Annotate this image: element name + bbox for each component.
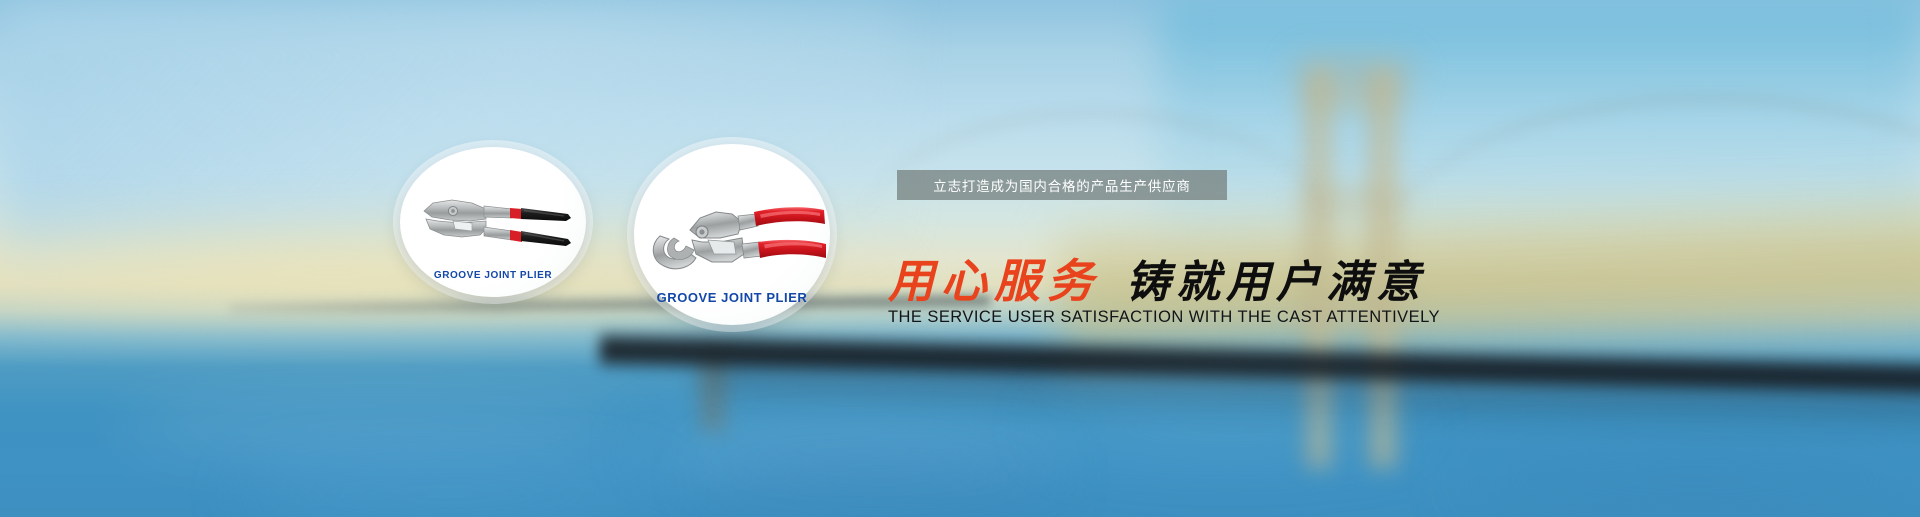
bridge-tower-crossbeam bbox=[1300, 86, 1405, 110]
subheadline: THE SERVICE USER SATISFACTION WITH THE C… bbox=[888, 308, 1440, 327]
headline: 用心服务 铸就用户满意 bbox=[888, 245, 1426, 311]
headline-black-text: 铸就用户满意 bbox=[1126, 246, 1426, 310]
hero-banner: GROOVE JOINT PLIER bbox=[0, 0, 1920, 517]
product-circle-groove-joint-plier-1[interactable]: GROOVE JOINT PLIER bbox=[400, 147, 586, 297]
product-caption: GROOVE JOINT PLIER bbox=[634, 290, 830, 305]
product-caption: GROOVE JOINT PLIER bbox=[400, 270, 586, 281]
water-highlight bbox=[1040, 400, 1420, 455]
water-highlight bbox=[240, 470, 660, 517]
product-circle-groove-joint-plier-2[interactable]: GROOVE JOINT PLIER bbox=[634, 144, 830, 325]
tagline-text: 立志打造成为国内合格的产品生产供应商 bbox=[933, 175, 1190, 195]
water-shadow bbox=[700, 455, 1060, 500]
tagline-badge: 立志打造成为国内合格的产品生产供应商 bbox=[897, 170, 1227, 200]
water-highlight bbox=[1460, 450, 1920, 510]
water-highlight bbox=[120, 392, 640, 462]
headline-red-text: 用心服务 bbox=[888, 245, 1100, 311]
